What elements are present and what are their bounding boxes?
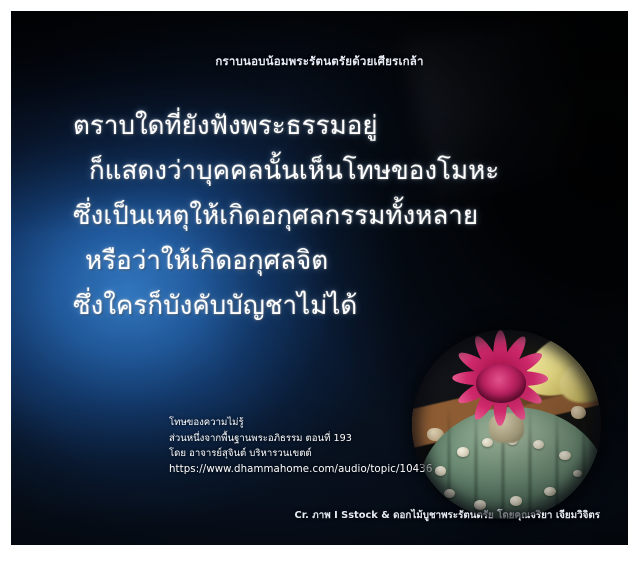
poster-canvas: กราบนอบน้อมพระรัตนตรัยด้วยเศียรเกล้า ตรา… — [11, 11, 628, 545]
attribution-title: โทษของความไม่รู้ — [169, 415, 432, 431]
attribution-speaker: โดย อาจารย์สุจินต์ บริหารวนเขตต์ — [169, 446, 432, 462]
image-credit: Cr. ภาพ I Sstock & ดอกไม้บูชาพระรัตนตรัย… — [295, 508, 600, 523]
verse-line-2: ก็แสดงว่าบุคคลนั้นเห็นโทษของโมหะ — [73, 149, 543, 194]
attribution-url[interactable]: https://www.dhammahome.com/audio/topic/1… — [169, 462, 432, 478]
attribution-source: ส่วนหนึ่งจากพื้นฐานพระอภิธรรม ตอนที่ 193 — [169, 431, 432, 447]
verse-line-5: ซึ่งใครก็บังคับบัญชาไม่ได้ — [73, 284, 543, 329]
verse-line-4: หรือว่าให้เกิดอกุศลจิต — [73, 239, 543, 284]
verse-block: ตราบใดที่ยังฟังพระธรรมอยู่ ก็แสดงว่าบุคค… — [73, 104, 543, 329]
attribution-block: โทษของความไม่รู้ ส่วนหนึ่งจากพื้นฐานพระอ… — [169, 415, 432, 477]
verse-line-1: ตราบใดที่ยังฟังพระธรรมอยู่ — [73, 104, 543, 149]
verse-line-3: ซึ่งเป็นเหตุให้เกิดอกุศลกรรมทั้งหลาย — [73, 194, 543, 239]
poster-content: กราบนอบน้อมพระรัตนตรัยด้วยเศียรเกล้า ตรา… — [11, 11, 628, 545]
homage-line: กราบนอบน้อมพระรัตนตรัยด้วยเศียรเกล้า — [11, 53, 628, 71]
poster-frame: กราบนอบน้อมพระรัตนตรัยด้วยเศียรเกล้า ตรา… — [0, 0, 640, 564]
